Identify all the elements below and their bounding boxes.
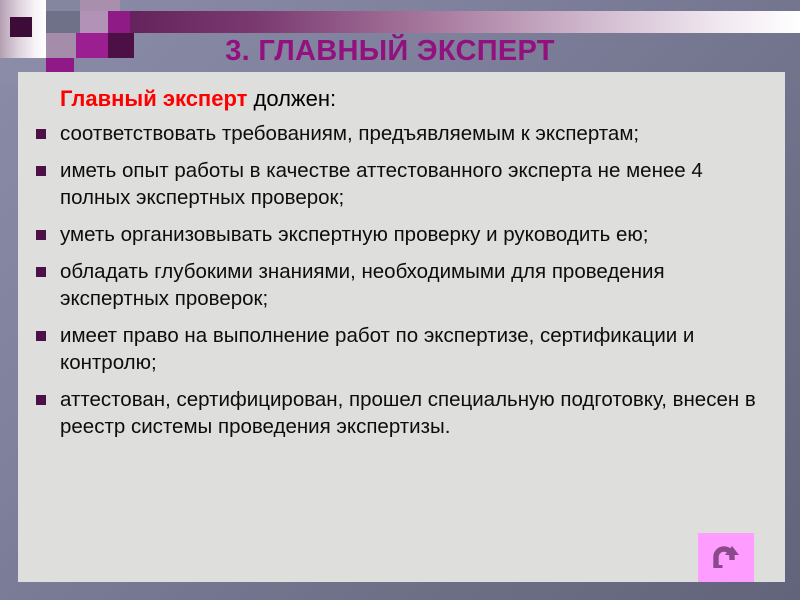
list-item: иметь опыт работы в качестве аттестованн… (34, 157, 771, 211)
list-item: уметь организовывать экспертную проверку… (34, 221, 771, 248)
list-item-text: иметь опыт работы в качестве аттестованн… (60, 159, 703, 209)
bullet-square-icon (36, 331, 46, 341)
bullet-square-icon (36, 166, 46, 176)
list-item: обладать глубокими знаниями, необходимым… (34, 258, 771, 312)
content-panel: Главный эксперт должен: соответствовать … (18, 72, 785, 582)
lead-paragraph: Главный эксперт должен: (60, 84, 771, 114)
slide-canvas: 3. ГЛАВНЫЙ ЭКСПЕРТ Главный эксперт долже… (0, 0, 800, 600)
list-item: аттестован, сертифицирован, прошел специ… (34, 386, 771, 440)
decor-square-slate-top (46, 0, 80, 11)
list-item-text: уметь организовывать экспертную проверку… (60, 223, 649, 246)
decor-square-lightmauve (80, 11, 108, 33)
lead-rest-text: должен: (247, 86, 336, 111)
list-item-text: имеет право на выполнение работ по экспе… (60, 324, 694, 374)
u-turn-arrow-icon (709, 541, 743, 575)
decor-square-slate-mid (46, 11, 80, 33)
list-item-text: обладать глубокими знаниями, необходимым… (60, 260, 665, 310)
return-button[interactable] (698, 533, 754, 582)
decor-square-magenta-top (108, 11, 130, 33)
lead-highlight-text: Главный эксперт (60, 86, 247, 111)
bullet-square-icon (36, 395, 46, 405)
bullet-square-icon (36, 129, 46, 139)
page-title: 3. ГЛАВНЫЙ ЭКСПЕРТ (0, 33, 780, 69)
list-item: соответствовать требованиям, предъявляем… (34, 120, 771, 147)
decor-square-mauve-top (80, 0, 120, 11)
list-item-text: аттестован, сертифицирован, прошел специ… (60, 388, 756, 438)
list-item: имеет право на выполнение работ по экспе… (34, 322, 771, 376)
list-item-text: соответствовать требованиям, предъявляем… (60, 122, 639, 145)
bullet-square-icon (36, 267, 46, 277)
bullet-square-icon (36, 230, 46, 240)
requirements-list: соответствовать требованиям, предъявляем… (34, 120, 771, 440)
